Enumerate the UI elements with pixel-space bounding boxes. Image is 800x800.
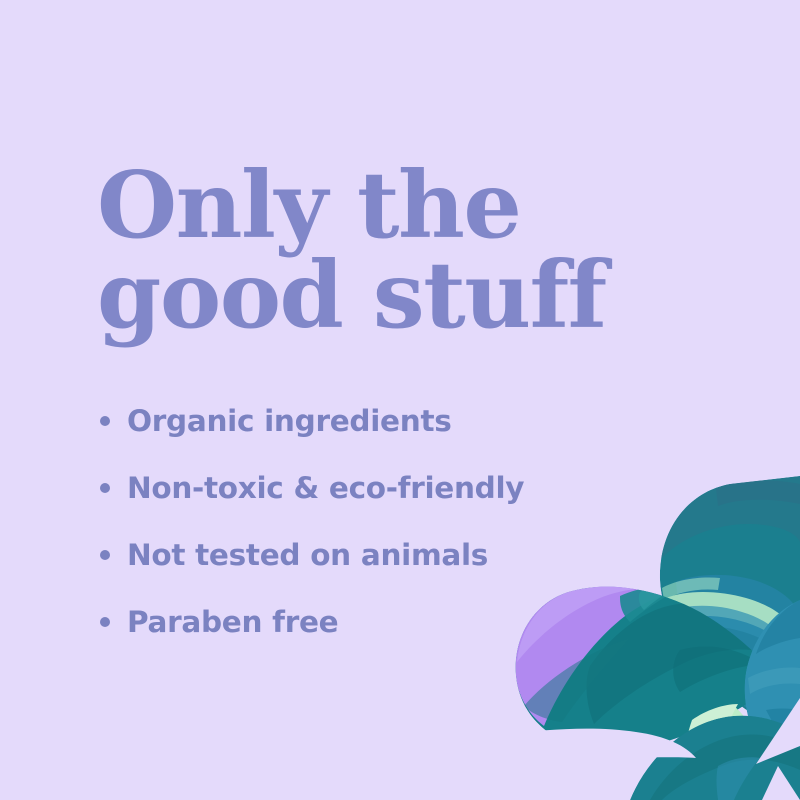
benefit-list: Organic ingredients Non-toxic & eco-frie… [97,387,717,655]
poster-canvas: Only the good stuff Organic ingredients … [0,0,800,800]
petal-right-teal [745,600,800,794]
benefit-label: Non-toxic & eco-friendly [127,471,524,505]
petal-gap-wedges [480,698,800,800]
petal-center-mint [684,704,786,800]
benefit-label: Organic ingredients [127,404,452,438]
petal-bottom-teal [630,716,800,800]
list-item: Not tested on animals [97,521,717,588]
list-item: Paraben free [97,588,717,655]
bullet-icon [100,483,110,493]
bullet-icon [100,550,110,560]
page-title: Only the good stuff [97,160,717,340]
benefit-label: Not tested on animals [127,538,488,572]
benefit-label: Paraben free [127,605,338,639]
list-item: Organic ingredients [97,387,717,454]
bullet-icon [100,617,110,627]
bullet-icon [100,416,110,426]
list-item: Non-toxic & eco-friendly [97,454,717,521]
content-block: Only the good stuff Organic ingredients … [97,160,717,655]
